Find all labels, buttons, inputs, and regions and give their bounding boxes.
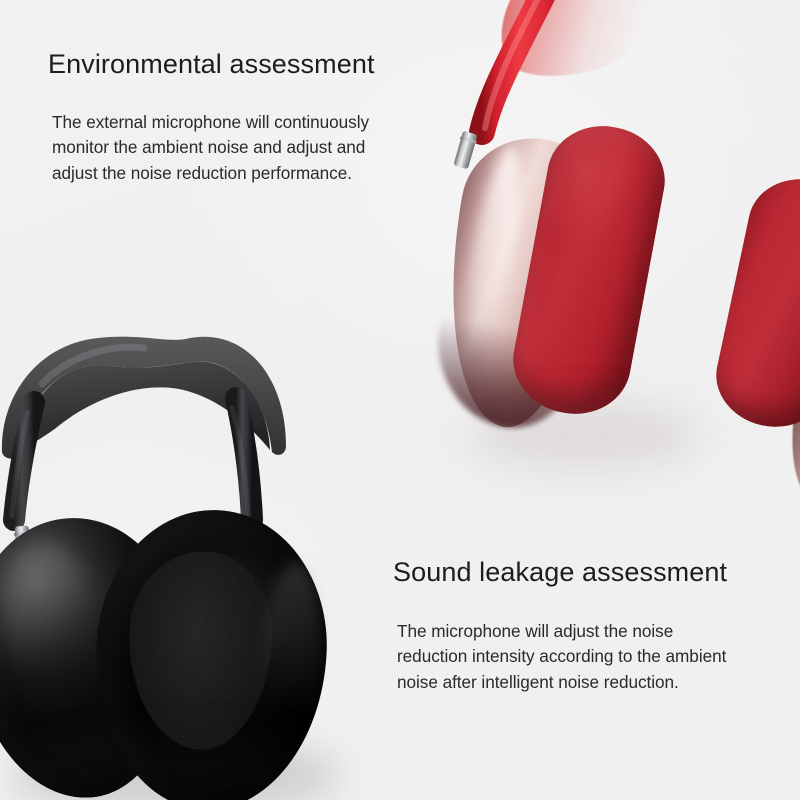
mesh-texture <box>707 169 800 437</box>
body-line: reduction intensity according to the amb… <box>397 644 727 670</box>
body-line: The microphone will adjust the noise <box>397 619 727 645</box>
body-line: The external microphone will continuousl… <box>52 110 375 136</box>
body-line: adjust the noise reduction performance. <box>52 161 375 187</box>
sound-leakage-assessment-heading: Sound leakage assessment <box>393 556 727 590</box>
black-headphone-image <box>0 320 374 800</box>
infographic-canvas: Environmental assessment The external mi… <box>0 0 800 800</box>
sound-leakage-assessment-body: The microphone will adjust the noise red… <box>397 619 727 696</box>
environmental-assessment-block: Environmental assessment The external mi… <box>48 48 375 187</box>
sound-leakage-assessment-block: Sound leakage assessment The microphone … <box>393 556 727 696</box>
black-ear-cushion-mesh <box>124 548 277 753</box>
environmental-assessment-heading: Environmental assessment <box>48 48 375 82</box>
red-far-ear-cushion <box>707 169 800 437</box>
body-line: noise after intelligent noise reduction. <box>397 670 727 696</box>
body-line: monitor the ambient noise and adjust and <box>52 135 375 161</box>
environmental-assessment-body: The external microphone will continuousl… <box>52 110 375 187</box>
red-headphone-image <box>400 0 800 480</box>
